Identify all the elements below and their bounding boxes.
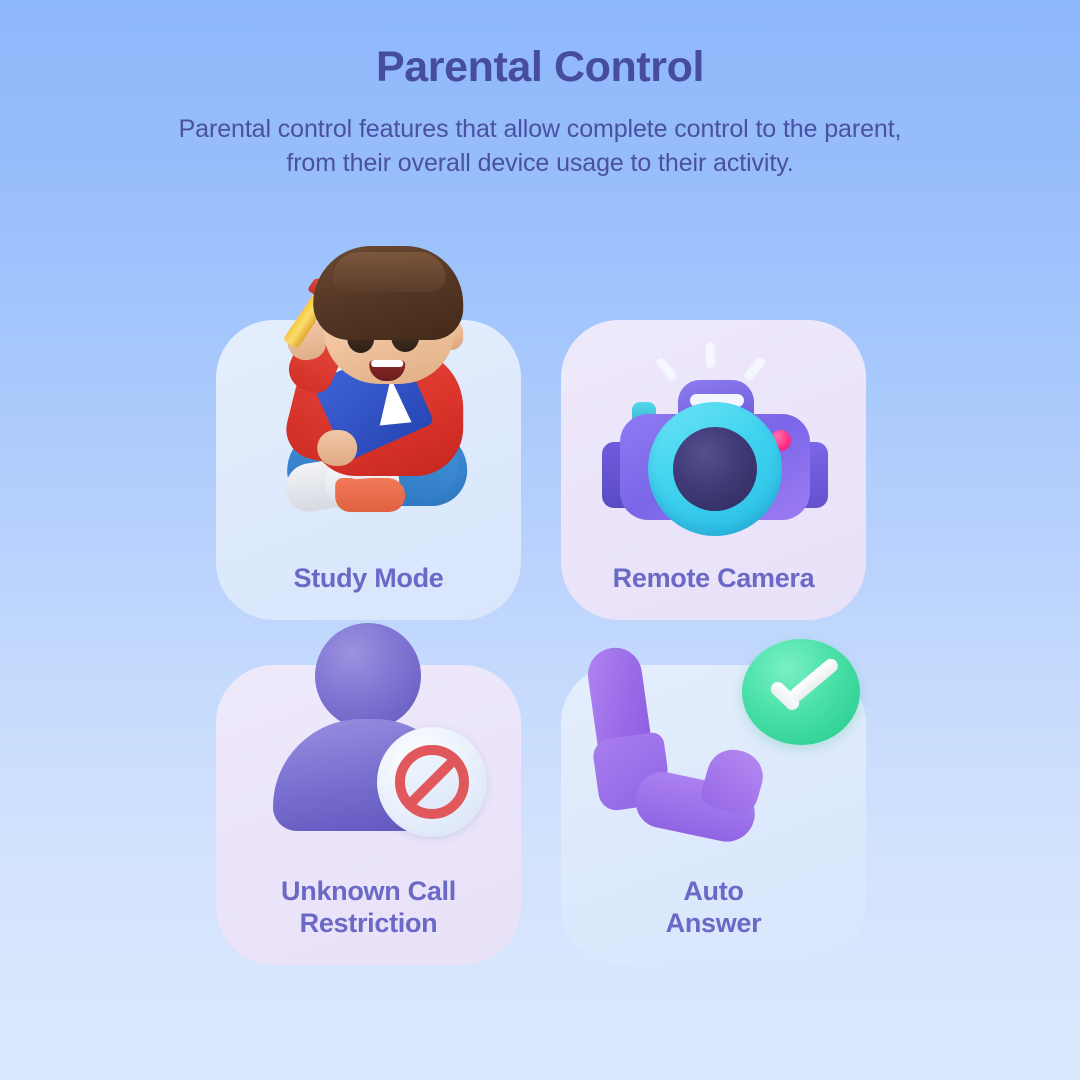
blocked-user-icon: [216, 623, 521, 873]
card-label-remote-camera: Remote Camera: [613, 563, 815, 594]
card-label-study-mode: Study Mode: [294, 563, 444, 594]
feature-card-study-mode[interactable]: Study Mode: [216, 320, 521, 620]
card-label-auto-answer: Auto Answer: [666, 876, 762, 939]
feature-card-unknown-call-restriction[interactable]: Unknown Call Restriction: [216, 665, 521, 965]
check-circle-icon: [742, 639, 860, 745]
page-header: Parental Control Parental control featur…: [0, 0, 1080, 180]
card-label-unknown-call-restriction: Unknown Call Restriction: [281, 876, 456, 939]
card-label-line-2: Restriction: [300, 908, 438, 938]
feature-card-auto-answer[interactable]: Auto Answer: [561, 665, 866, 965]
phone-check-icon: [561, 637, 866, 887]
boy-studying-icon: [216, 250, 521, 550]
feature-card-remote-camera[interactable]: Remote Camera: [561, 320, 866, 620]
camera-icon: [561, 342, 866, 552]
page-subtitle: Parental control features that allow com…: [160, 113, 920, 180]
feature-card-grid: Study Mode Remote Camera: [216, 320, 866, 965]
card-label-line-1: Auto: [683, 876, 743, 906]
card-label-line-2: Answer: [666, 908, 762, 938]
page-title: Parental Control: [0, 44, 1080, 91]
card-label-line-1: Unknown Call: [281, 876, 456, 906]
